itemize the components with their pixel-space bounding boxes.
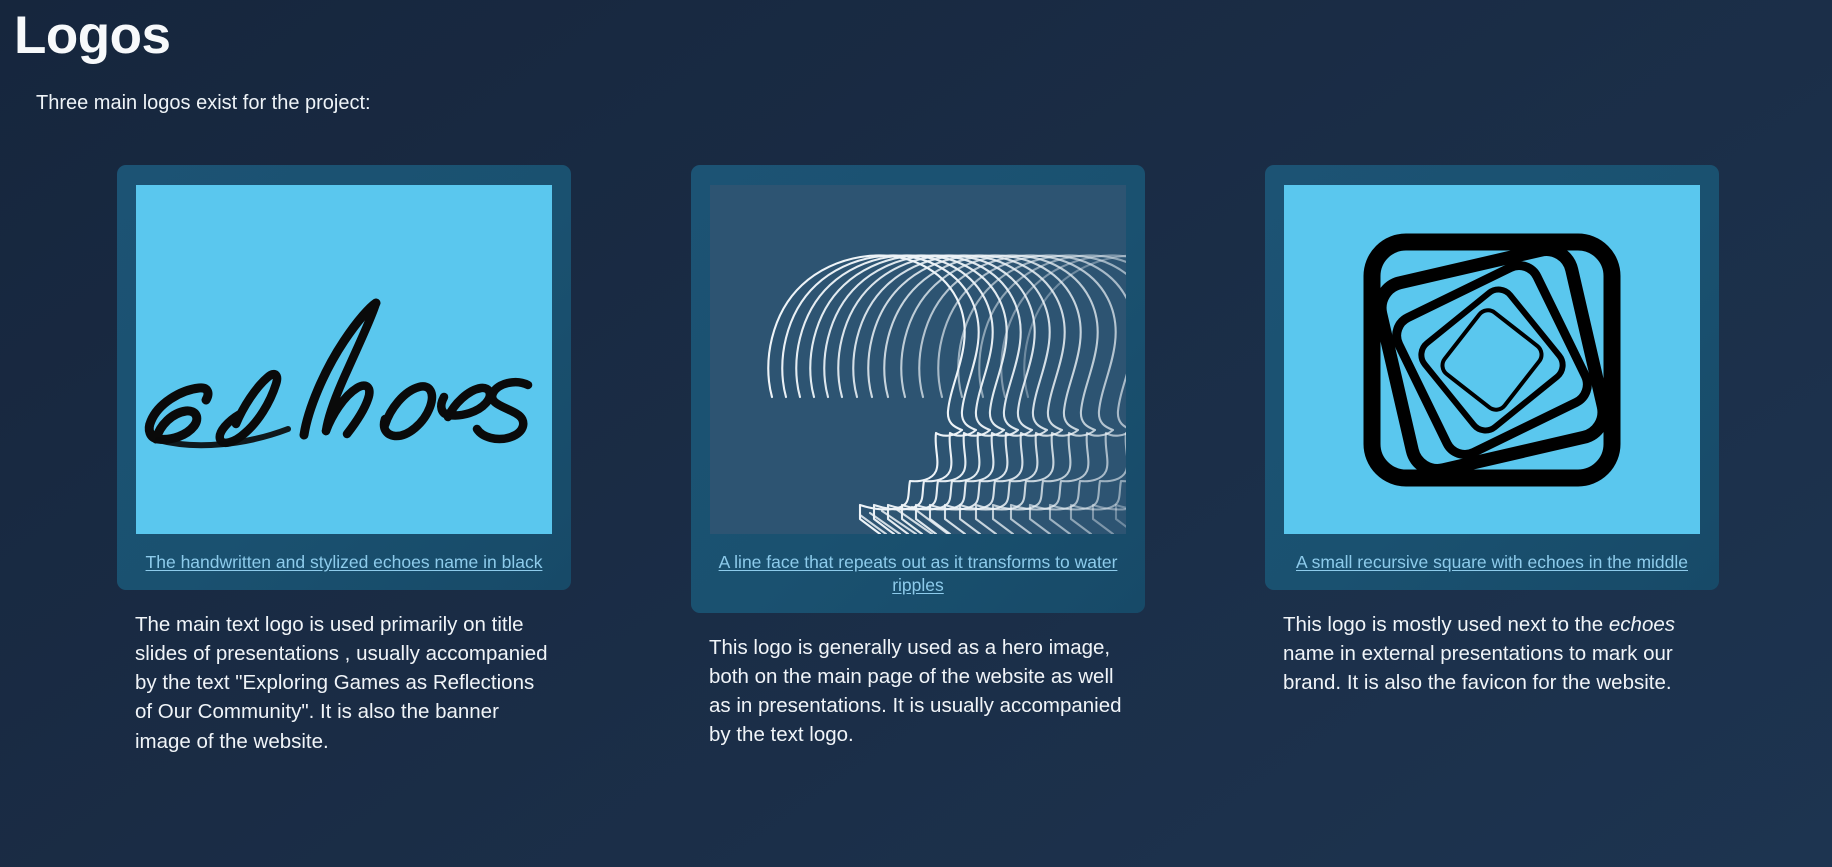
- logo-caption-link-1[interactable]: The handwritten and stylized echoes name…: [136, 551, 552, 574]
- logo-description-text-3a: This logo is mostly used next to the: [1283, 613, 1609, 636]
- logo-card-2: A line face that repeats out as it trans…: [691, 165, 1145, 613]
- logo-description-text-2: This logo is generally used as a hero im…: [709, 636, 1122, 746]
- recursive-square-logo-icon: [1284, 185, 1700, 534]
- logo-description-text-1: The main text logo is used primarily on …: [135, 613, 548, 752]
- logo-description-text-3b: name in external presentations to mark o…: [1283, 642, 1673, 694]
- logo-description-2: This logo is generally used as a hero im…: [691, 613, 1145, 749]
- logo-caption-link-2[interactable]: A line face that repeats out as it trans…: [710, 551, 1126, 597]
- logo-card-1: The handwritten and stylized echoes name…: [117, 165, 571, 590]
- logos-page: Logos Three main logos exist for the pro…: [0, 0, 1832, 867]
- logo-column-1: The handwritten and stylized echoes name…: [117, 165, 571, 755]
- line-face-ripple-logo-icon: [710, 185, 1126, 534]
- logo-description-3: This logo is mostly used next to the ech…: [1265, 590, 1719, 697]
- intro-text: Three main logos exist for the project:: [0, 65, 1832, 117]
- echoes-wordmark-logo-icon: [136, 185, 552, 534]
- logo-caption-link-3[interactable]: A small recursive square with echoes in …: [1284, 551, 1700, 574]
- logo-column-3: A small recursive square with echoes in …: [1265, 165, 1719, 755]
- logo-description-1: The main text logo is used primarily on …: [117, 590, 571, 756]
- logo-cards-row: The handwritten and stylized echoes name…: [0, 117, 1832, 755]
- page-title: Logos: [0, 0, 1832, 65]
- logo-card-3: A small recursive square with echoes in …: [1265, 165, 1719, 590]
- logo-description-emphasis-3: echoes: [1609, 613, 1675, 636]
- logo-column-2: A line face that repeats out as it trans…: [691, 165, 1145, 755]
